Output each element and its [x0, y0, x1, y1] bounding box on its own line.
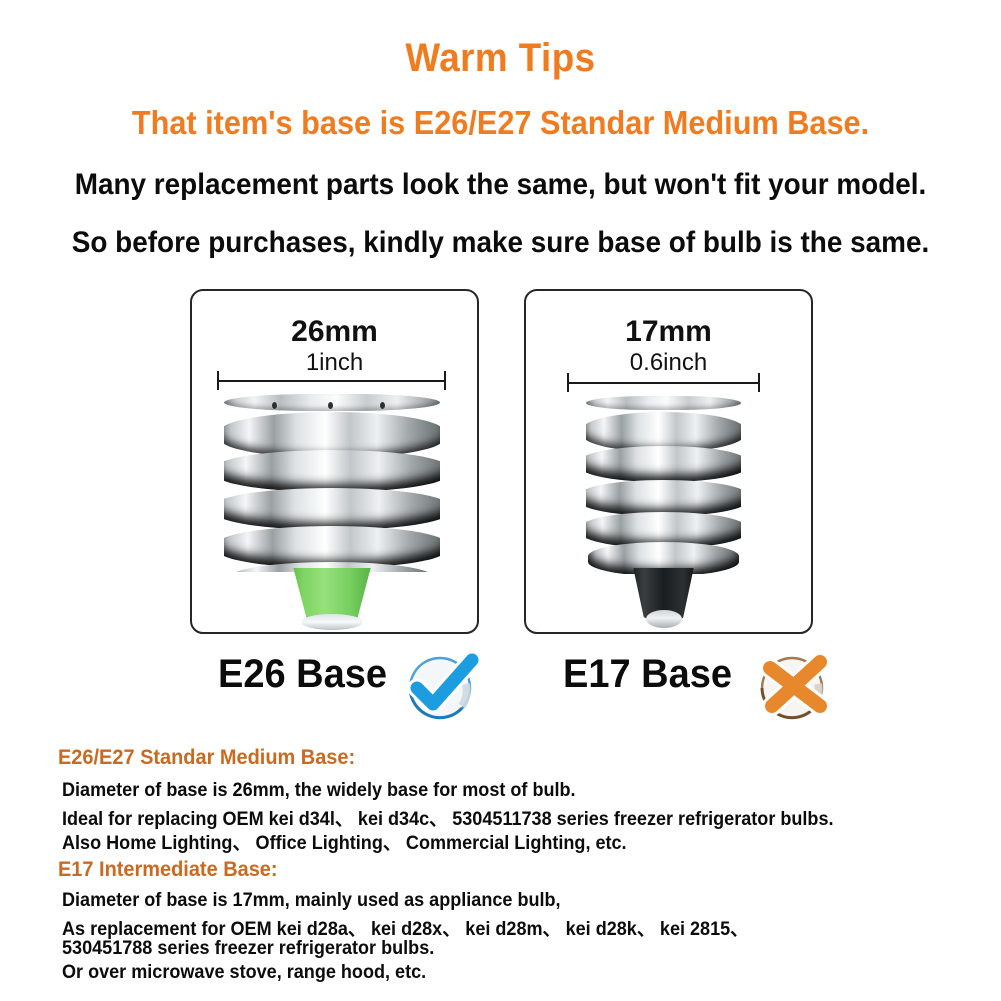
notice-line-2: So before purchases, kindly make sure ba… [35, 226, 966, 260]
tip-foot [301, 614, 363, 630]
detail-line: 530451788 series freezer refrigerator bu… [62, 938, 434, 960]
check-icon [400, 648, 482, 720]
e26-base-label: E26 Base [218, 652, 387, 697]
warm-tips-infographic: Warm Tips That item's base is E26/E27 St… [0, 0, 1001, 1001]
e17-mm-label: 17mm [526, 315, 811, 349]
detail-heading-e26: E26/E27 Standar Medium Base: [58, 746, 355, 770]
e26-mm-label: 26mm [192, 315, 477, 349]
ruler-bar [567, 382, 760, 384]
detail-line: As replacement for OEM kei d28a、 kei d28… [62, 914, 748, 941]
notice-line-1: Many replacement parts look the same, bu… [35, 168, 966, 202]
detail-line: Ideal for replacing OEM kei d34l、 kei d3… [62, 804, 834, 831]
page-title: Warm Tips [40, 36, 961, 81]
ruler-cap-right [758, 373, 760, 392]
e26-contact-tip [286, 568, 378, 624]
subtitle: That item's base is E26/E27 Standar Medi… [35, 104, 966, 142]
detail-line: Or over microwave stove, range hood, etc… [62, 962, 426, 984]
panel-e17: 17mm 0.6inch [524, 289, 813, 634]
e17-contact-tip [628, 568, 700, 622]
close-icon [752, 648, 834, 720]
detail-line: Diameter of base is 17mm, mainly used as… [62, 890, 561, 912]
e26-dimension-ruler [217, 371, 446, 389]
ruler-bar [217, 380, 446, 382]
bulb-screw-threads [586, 408, 741, 574]
ruler-cap-right [444, 371, 446, 390]
detail-heading-e17: E17 Intermediate Base: [58, 858, 278, 882]
detail-line: Diameter of base is 26mm, the widely bas… [62, 780, 576, 802]
e26-bulb-base-image [224, 394, 440, 624]
tip-foot [646, 610, 682, 628]
panel-e26: 26mm 1inch [190, 289, 479, 634]
check-badge [400, 648, 482, 720]
x-badge [752, 648, 834, 720]
bulb-screw-threads [224, 406, 440, 572]
e17-base-label: E17 Base [563, 652, 732, 697]
e17-dimension-ruler [567, 373, 760, 391]
detail-line: Also Home Lighting、 Office Lighting、 Com… [62, 828, 627, 855]
e17-bulb-base-image [586, 396, 741, 622]
